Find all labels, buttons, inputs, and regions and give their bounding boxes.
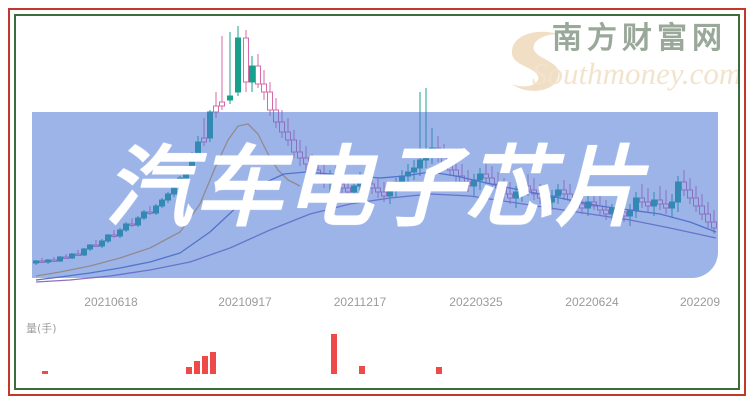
x-axis-ticks: 2021061820210917202112172022032520220624… [0,295,750,313]
volume-bar [210,352,216,374]
x-axis-tick-label: 20210917 [218,295,271,309]
candle [236,26,241,96]
x-axis-tick-label: 20220325 [449,295,502,309]
volume-bar [436,367,442,374]
volume-bar [359,366,365,374]
candle [256,54,261,88]
volume-pane: 量(手) [0,320,750,382]
volume-bar [194,361,200,374]
volume-bar [42,371,48,374]
page-title: 汽车电子芯片 [0,133,750,243]
volume-bar-group [0,328,750,374]
x-axis-tick-label: 20220624 [565,295,618,309]
candle [262,70,267,100]
candle [250,56,255,92]
candle [268,82,273,116]
screenshot-canvas: 汽车电子芯片 南方财富网 Southmoney.com 202106182021… [0,0,750,400]
volume-bar [186,367,192,374]
volume-bar [331,334,337,374]
watermark-english: Southmoney.com [532,56,741,92]
candle [244,30,249,92]
watermark: 南方财富网 Southmoney.com [508,22,724,96]
candle [228,32,233,104]
watermark-chinese: 南方财富网 [552,22,727,55]
x-axis-tick-label: 20210618 [84,295,137,309]
x-axis-tick-label: 20211217 [334,295,387,309]
x-axis-tick-label: 202209 [680,295,720,309]
volume-bar [202,356,208,374]
candle [220,36,225,110]
